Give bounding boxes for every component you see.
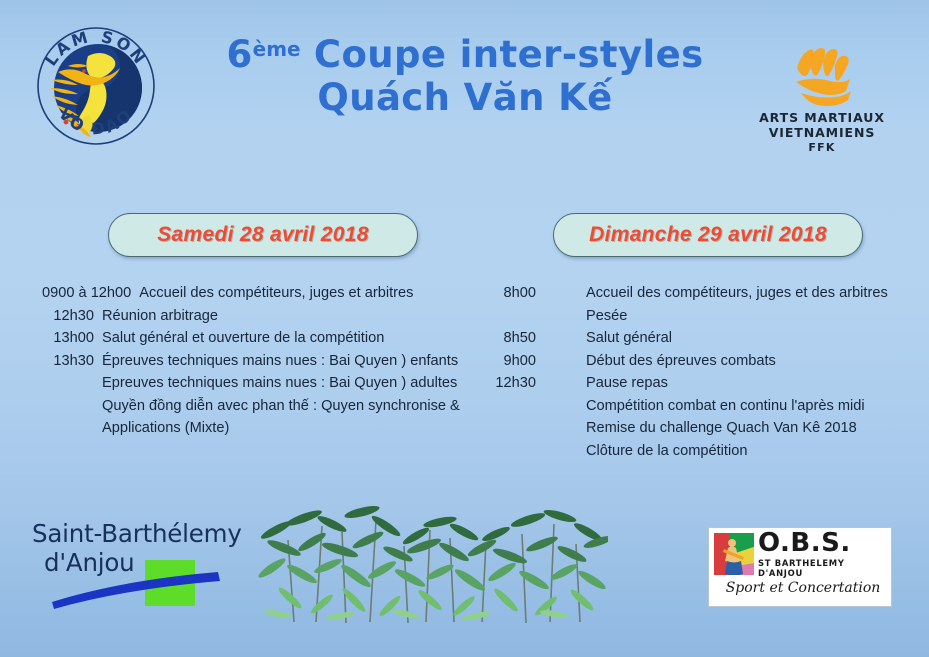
schedule-row: 13h30 Épreuves techniques mains nues : B… xyxy=(42,350,512,373)
schedule-time: 13h00 xyxy=(42,327,94,350)
schedule-description: Pause repas xyxy=(586,372,916,395)
saint-barthelemy-danjou-logo: Saint-Barthélemy d'Anjou xyxy=(28,520,258,610)
schedule-time: 9h00 xyxy=(486,350,536,373)
schedule-row: Epreuves techniques mains nues : Bai Quy… xyxy=(42,372,512,395)
schedule-time: 12h30 xyxy=(42,305,94,328)
schedule-row: 8h00 Accueil des compétiteurs, juges et … xyxy=(486,282,916,305)
title-ordinal-suffix: ème xyxy=(253,37,301,61)
fist-icon xyxy=(783,46,861,108)
schedule-description: Compétition combat en continu l'après mi… xyxy=(586,395,916,418)
schedule-description: Début des épreuves combats xyxy=(586,350,916,373)
ffk-line-3: FFK xyxy=(752,141,892,154)
schedule-description: Pesée xyxy=(586,305,916,328)
ffk-line-2: VIETNAMIENS xyxy=(752,125,892,140)
schedule-description: Quyền đồng diễn avec phan thế : Quyen sy… xyxy=(102,395,512,418)
title-main-text: Coupe inter-styles xyxy=(301,33,704,76)
title-number: 6 xyxy=(226,33,252,76)
schedule-row: 12h30 Pause repas xyxy=(486,372,916,395)
title-line-2: Quách Văn Kế xyxy=(215,79,715,118)
date-badge-sunday-label: Dimanche 29 avril 2018 xyxy=(589,223,827,247)
schedule-row: Compétition combat en continu l'après mi… xyxy=(486,395,916,418)
obs-title: O.B.S. xyxy=(758,530,888,557)
poster-title: 6ème Coupe inter-styles Quách Văn Kế xyxy=(215,36,715,118)
schedule-row: 8h50 Salut général xyxy=(486,327,916,350)
title-line-1: 6ème Coupe inter-styles xyxy=(215,36,715,75)
schedule-row: Clôture de la compétition xyxy=(486,440,916,463)
schedule-sunday: 8h00 Accueil des compétiteurs, juges et … xyxy=(486,282,916,462)
schedule-saturday: 0900 à 12h00 Accueil des compétiteurs, j… xyxy=(42,282,512,440)
date-badge-saturday-label: Samedi 28 avril 2018 xyxy=(157,223,368,247)
poster-canvas: LAM SON VO ĐAO 6ème Coupe inter-styles Q… xyxy=(0,0,929,657)
ffk-line-1: ARTS MARTIAUX xyxy=(752,110,892,125)
schedule-row: Applications (Mixte) xyxy=(42,417,512,440)
schedule-description: Épreuves techniques mains nues : Bai Quy… xyxy=(102,350,512,373)
schedule-time: 12h30 xyxy=(486,372,536,395)
schedule-row: Quyền đồng diễn avec phan thế : Quyen sy… xyxy=(42,395,512,418)
lam-son-vo-dao-logo: LAM SON VO ĐAO xyxy=(28,18,164,154)
schedule-time: 0900 à 12h00 xyxy=(42,282,131,305)
schedule-row: 0900 à 12h00 Accueil des compétiteurs, j… xyxy=(42,282,512,305)
schedule-row: Pesée xyxy=(486,305,916,328)
obs-slogan: Sport et Concertation xyxy=(719,580,887,596)
schedule-description: Salut général xyxy=(586,327,916,350)
schedule-row: Remise du challenge Quach Van Kê 2018 xyxy=(486,417,916,440)
schedule-description: Clôture de la compétition xyxy=(586,440,916,463)
obs-subtitle: ST BARTHELEMY D'ANJOU xyxy=(758,558,888,578)
schedule-time: 8h00 xyxy=(486,282,536,305)
schedule-row: 13h00 Salut général et ouverture de la c… xyxy=(42,327,512,350)
schedule-time: 13h30 xyxy=(42,350,94,373)
schedule-description: Accueil des compétiteurs, juges et des a… xyxy=(586,282,916,305)
schedule-description: Accueil des compétiteurs, juges et arbit… xyxy=(139,282,512,305)
schedule-description: Réunion arbitrage xyxy=(102,305,512,328)
schedule-description: Remise du challenge Quach Van Kê 2018 xyxy=(586,417,916,440)
schedule-row: 9h00 Début des épreuves combats xyxy=(486,350,916,373)
obs-badge-icon xyxy=(714,533,754,575)
schedule-description: Applications (Mixte) xyxy=(102,417,512,440)
bamboo-illustration xyxy=(258,480,608,625)
schedule-row: 12h30 Réunion arbitrage xyxy=(42,305,512,328)
schedule-description: Salut général et ouverture de la compéti… xyxy=(102,327,512,350)
schedule-time: 8h50 xyxy=(486,327,536,350)
saint-barthelemy-swoosh-icon xyxy=(28,520,258,610)
arts-martiaux-vietnamiens-ffk-logo: ARTS MARTIAUX VIETNAMIENS FFK xyxy=(752,46,892,154)
obs-logo: O.B.S. ST BARTHELEMY D'ANJOU Sport et Co… xyxy=(708,527,892,607)
date-badge-sunday: Dimanche 29 avril 2018 xyxy=(553,213,863,257)
schedule-description: Epreuves techniques mains nues : Bai Quy… xyxy=(102,372,512,395)
date-badge-saturday: Samedi 28 avril 2018 xyxy=(108,213,418,257)
